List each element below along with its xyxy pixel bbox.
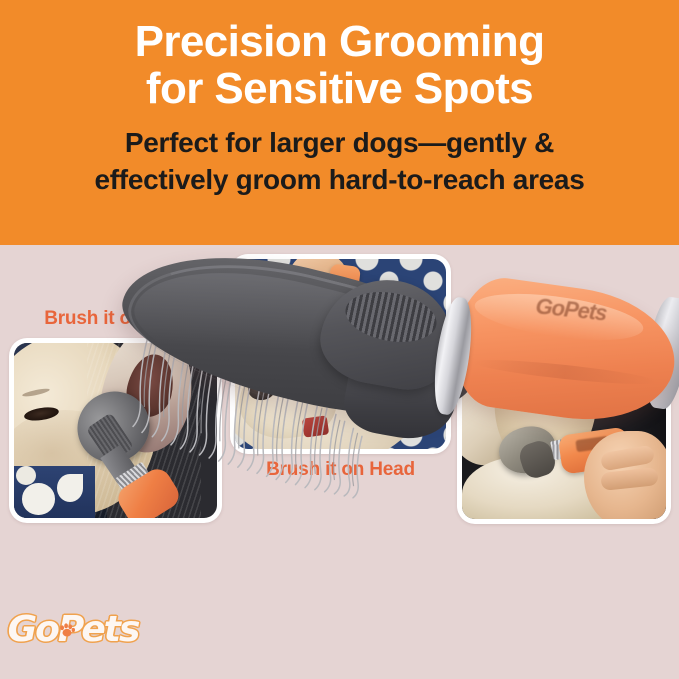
caption-under-chin: Under the Chin (449, 308, 679, 330)
blanket-motif (466, 347, 495, 375)
blanket-motif (16, 466, 36, 485)
caption-brush-head: Brush it on Head (224, 459, 457, 481)
photo-card-ears (9, 338, 222, 523)
photo-chin (462, 343, 666, 519)
brand-logo: GoPets (14, 603, 132, 655)
photo-card-head (230, 254, 451, 454)
header-banner: Precision Grooming for Sensitive Spots P… (0, 0, 679, 245)
photo-head (235, 259, 446, 449)
subhead-line-1: Perfect for larger dogs—gently & (125, 127, 554, 158)
page-title: Precision Grooming for Sensitive Spots (20, 18, 660, 112)
headline-line-1: Precision Grooming (135, 17, 545, 66)
blanket-motif (57, 474, 83, 502)
blanket-motif (22, 483, 54, 515)
subhead-line-2: effectively groom hard-to-reach areas (15, 161, 665, 198)
headline-line-2: for Sensitive Spots (20, 65, 660, 112)
paw-print-icon (58, 621, 76, 639)
showcase-area: Brush it on Ears Under the Chin Brush it… (0, 245, 679, 679)
dog-collar-tag (301, 415, 329, 437)
caption-brush-ears: Brush it on Ears (0, 308, 232, 330)
page-subtitle: Perfect for larger dogs—gently & effecti… (15, 124, 665, 198)
product-marketing-image: Precision Grooming for Sensitive Spots P… (0, 0, 679, 679)
photo-card-chin (457, 338, 671, 524)
photo-ears (14, 343, 217, 518)
